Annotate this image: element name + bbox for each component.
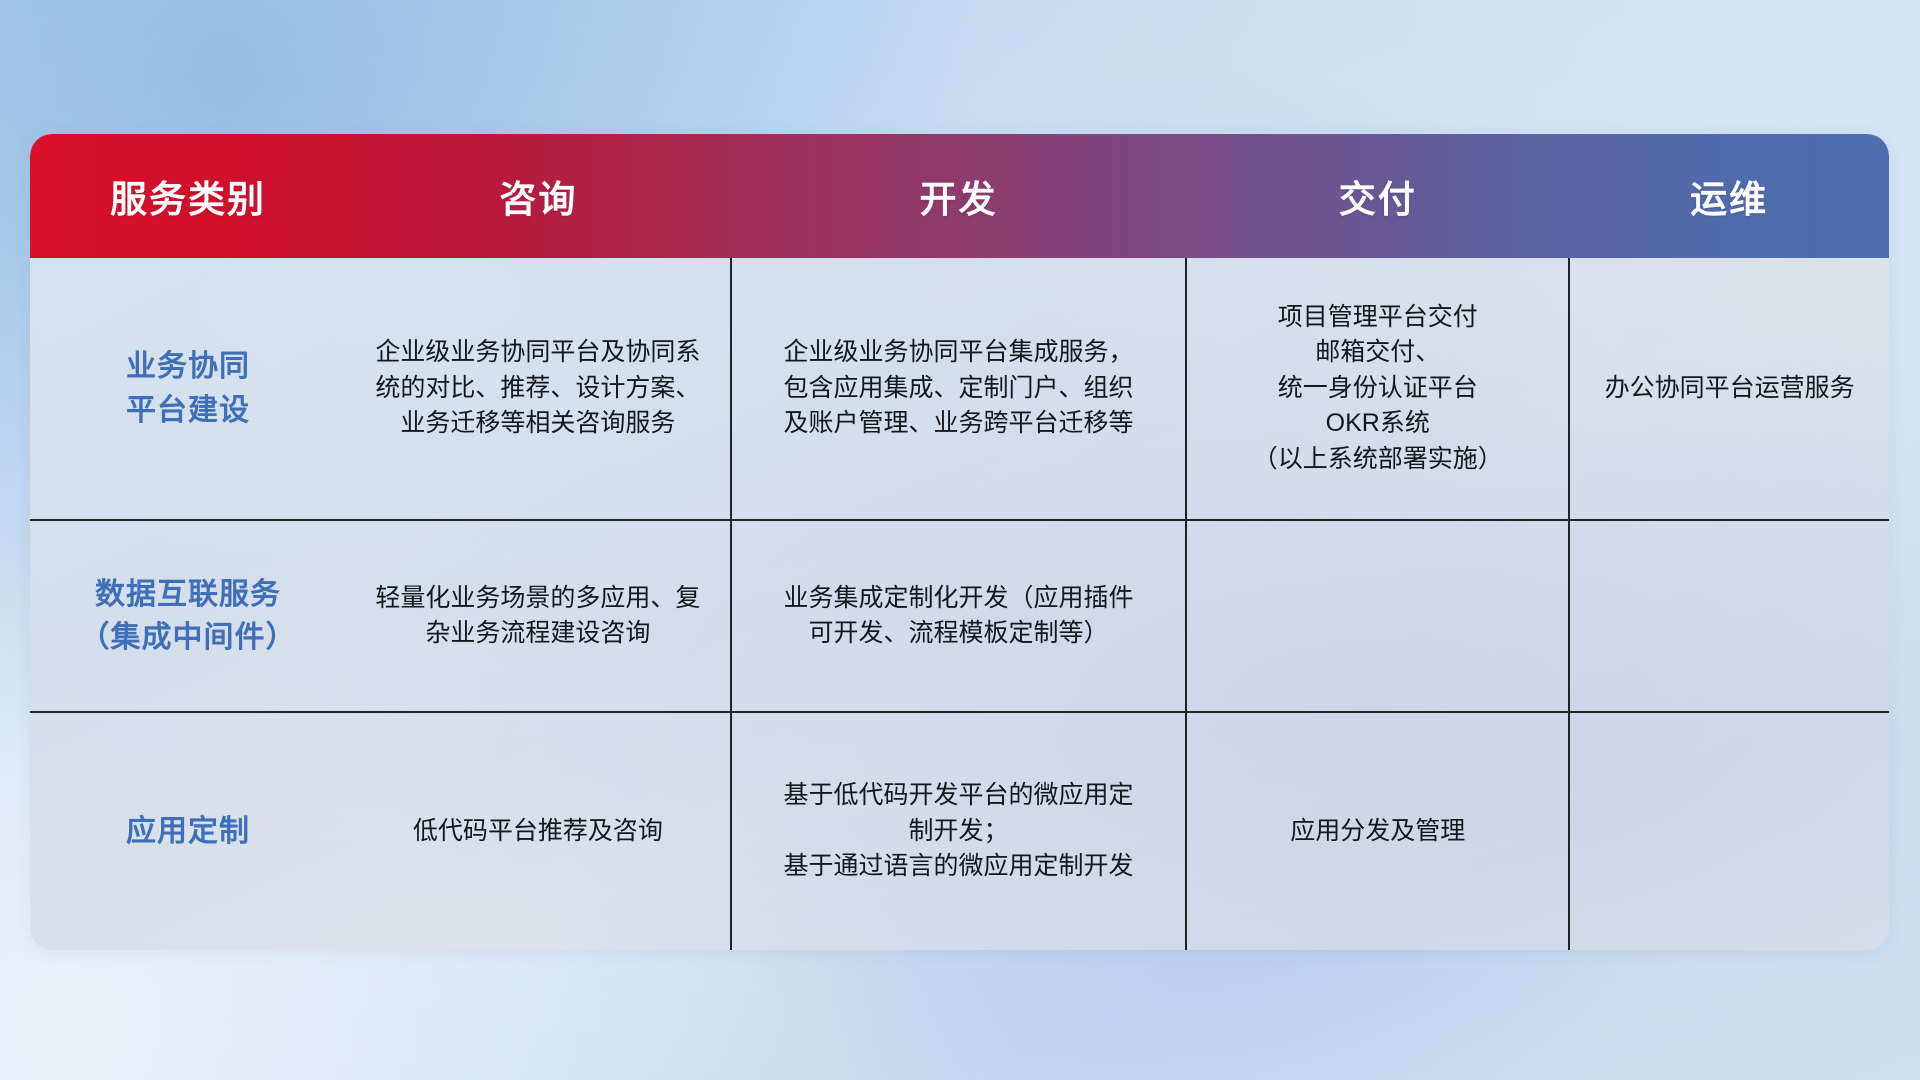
table-body: 业务协同 平台建设 企业级业务协同平台及协同系 统的对比、推荐、设计方案、 业务… [30, 258, 1889, 950]
cell-operations-row2 [1569, 520, 1889, 712]
cell-category-row3: 应用定制 [30, 712, 346, 950]
header-cell-delivery: 交付 [1186, 134, 1569, 258]
service-matrix-card: 服务类别 咨询 开发 交付 运维 业务协同 平台建设 企业级业务协同平台及协同系… [30, 134, 1889, 950]
header-cell-consulting: 咨询 [346, 134, 731, 258]
header-cell-operations: 运维 [1569, 134, 1889, 258]
cell-development-row3: 基于低代码开发平台的微应用定 制开发； 基于通过语言的微应用定制开发 [731, 712, 1186, 950]
cell-consulting-row1: 企业级业务协同平台及协同系 统的对比、推荐、设计方案、 业务迁移等相关咨询服务 [346, 258, 731, 520]
service-matrix-table: 服务类别 咨询 开发 交付 运维 业务协同 平台建设 企业级业务协同平台及协同系… [30, 134, 1889, 950]
header-cell-category: 服务类别 [30, 134, 346, 258]
cell-consulting-row3: 低代码平台推荐及咨询 [346, 712, 731, 950]
cell-consulting-row2: 轻量化业务场景的多应用、复 杂业务流程建设咨询 [346, 520, 731, 712]
cell-development-row2: 业务集成定制化开发（应用插件 可开发、流程模板定制等） [731, 520, 1186, 712]
table-row: 数据互联服务 （集成中间件） 轻量化业务场景的多应用、复 杂业务流程建设咨询 业… [30, 520, 1889, 712]
cell-development-row1: 企业级业务协同平台集成服务， 包含应用集成、定制门户、组织 及账户管理、业务跨平… [731, 258, 1186, 520]
table-header: 服务类别 咨询 开发 交付 运维 [30, 134, 1889, 258]
cell-category-row2: 数据互联服务 （集成中间件） [30, 520, 346, 712]
table-row: 应用定制 低代码平台推荐及咨询 基于低代码开发平台的微应用定 制开发； 基于通过… [30, 712, 1889, 950]
header-row: 服务类别 咨询 开发 交付 运维 [30, 134, 1889, 258]
cell-category-row1: 业务协同 平台建设 [30, 258, 346, 520]
table-row: 业务协同 平台建设 企业级业务协同平台及协同系 统的对比、推荐、设计方案、 业务… [30, 258, 1889, 520]
header-cell-development: 开发 [731, 134, 1186, 258]
cell-delivery-row1: 项目管理平台交付 邮箱交付、 统一身份认证平台 OKR系统 （以上系统部署实施） [1186, 258, 1569, 520]
cell-delivery-row2 [1186, 520, 1569, 712]
cell-operations-row3 [1569, 712, 1889, 950]
cell-delivery-row3: 应用分发及管理 [1186, 712, 1569, 950]
cell-operations-row1: 办公协同平台运营服务 [1569, 258, 1889, 520]
